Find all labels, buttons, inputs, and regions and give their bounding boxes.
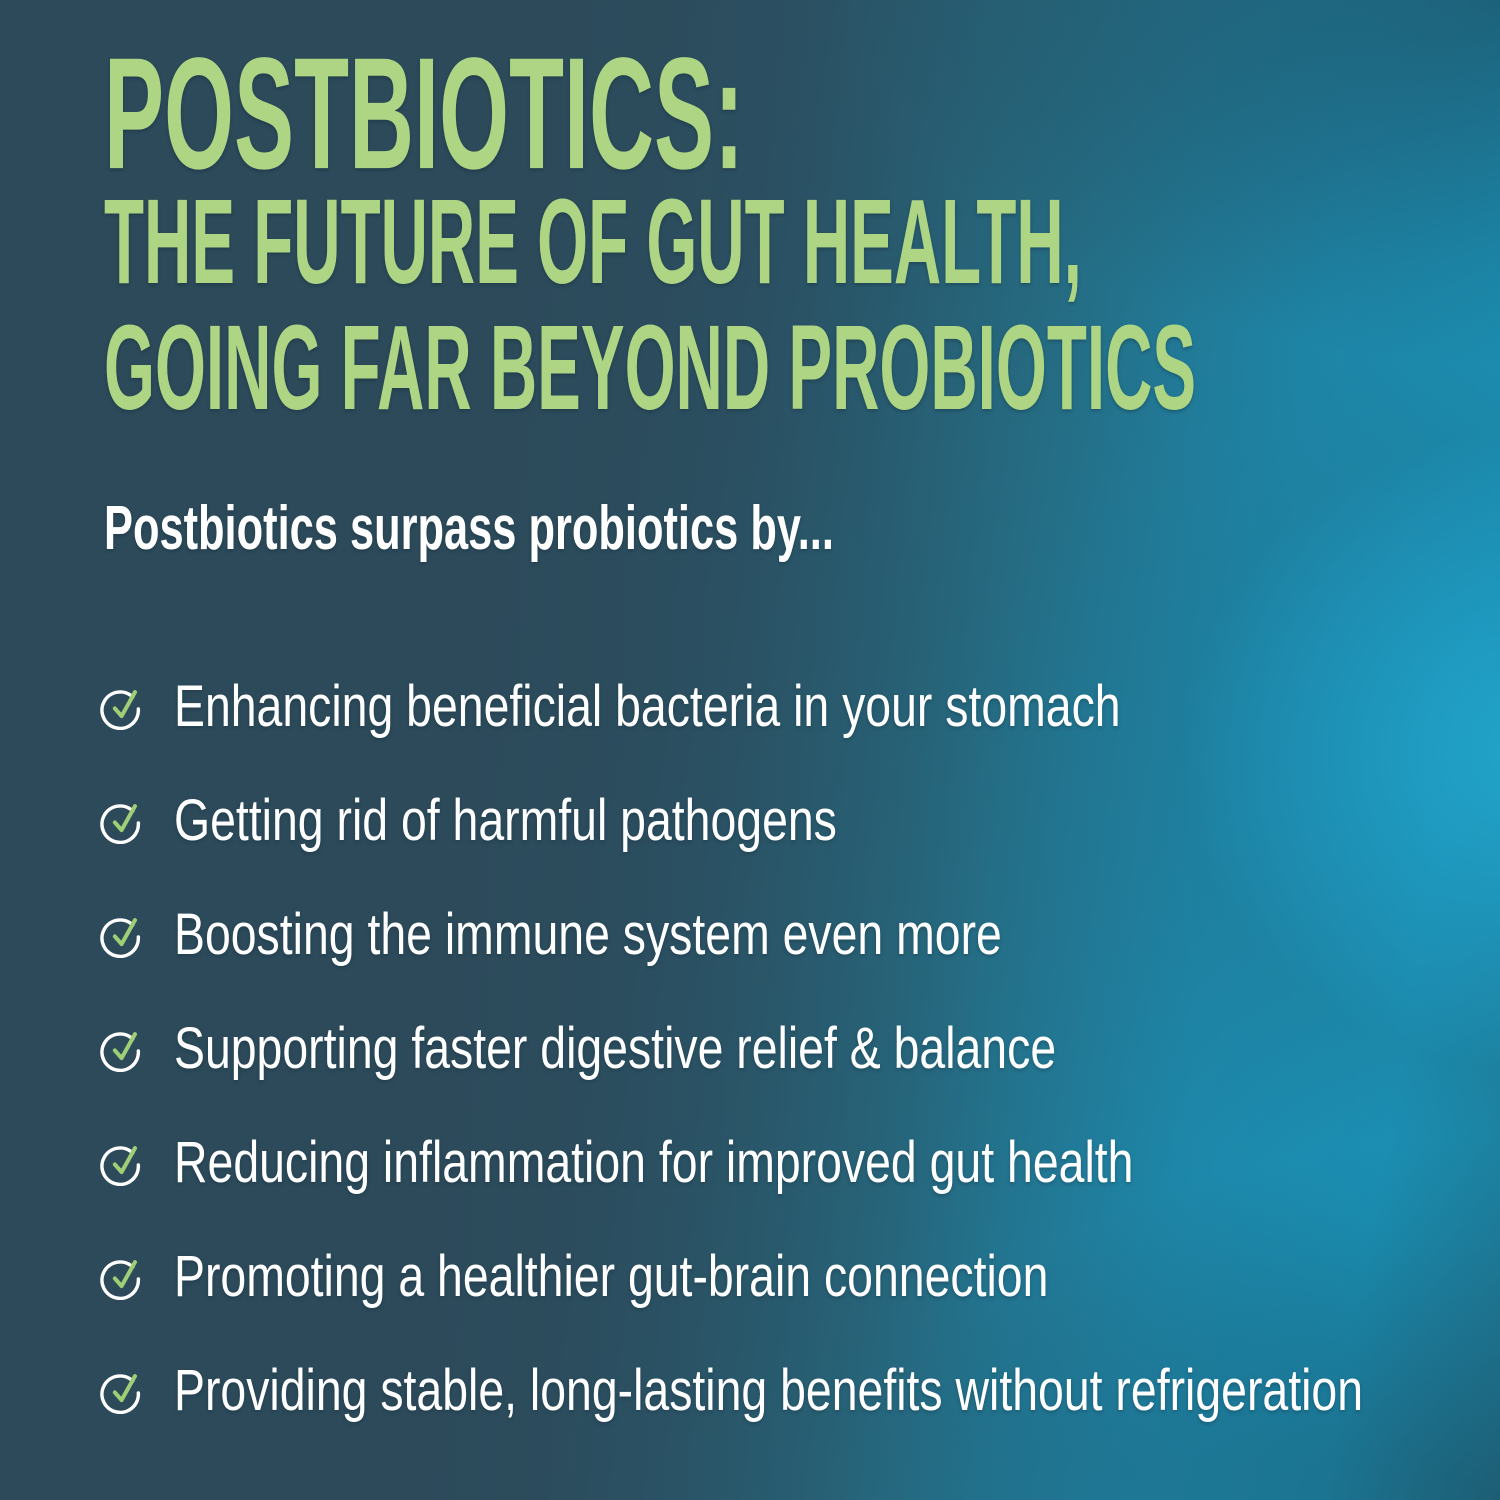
list-item: Reducing inflammation for improved gut h…	[100, 1106, 1460, 1220]
benefits-list: Enhancing beneficial bacteria in your st…	[100, 650, 1460, 1448]
circle-check-icon	[100, 798, 146, 844]
subheading-text: Postbiotics surpass probiotics by...	[104, 498, 834, 560]
benefit-label: Providing stable, long-lasting benefits …	[174, 1362, 1363, 1420]
list-item: Supporting faster digestive relief & bal…	[100, 992, 1460, 1106]
list-item: Providing stable, long-lasting benefits …	[100, 1334, 1460, 1448]
headline-line-1: POSTBIOTICS:	[104, 34, 902, 193]
benefit-label: Boosting the immune system even more	[174, 906, 1002, 964]
benefit-label: Getting rid of harmful pathogens	[174, 792, 837, 850]
benefit-label: Promoting a healthier gut-brain connecti…	[174, 1248, 1048, 1306]
circle-check-icon	[100, 912, 146, 958]
headline-line-2: THE FUTURE OF GUT HEALTH,	[104, 182, 882, 303]
circle-check-icon	[100, 1368, 146, 1414]
benefit-label: Supporting faster digestive relief & bal…	[174, 1020, 1056, 1078]
circle-check-icon	[100, 1140, 146, 1186]
circle-check-icon	[100, 1254, 146, 1300]
list-item: Promoting a healthier gut-brain connecti…	[100, 1220, 1460, 1334]
list-item: Enhancing beneficial bacteria in your st…	[100, 650, 1460, 764]
benefit-label: Enhancing beneficial bacteria in your st…	[174, 678, 1121, 736]
list-item: Getting rid of harmful pathogens	[100, 764, 1460, 878]
benefit-label: Reducing inflammation for improved gut h…	[174, 1134, 1133, 1192]
infographic-poster: POSTBIOTICS: THE FUTURE OF GUT HEALTH, G…	[0, 0, 1500, 1500]
circle-check-icon	[100, 684, 146, 730]
headline-block: POSTBIOTICS: THE FUTURE OF GUT HEALTH, G…	[104, 38, 1434, 424]
circle-check-icon	[100, 1026, 146, 1072]
headline-line-3: GOING FAR BEYOND PROBIOTICS	[104, 308, 882, 429]
list-item: Boosting the immune system even more	[100, 878, 1460, 992]
poster-content: POSTBIOTICS: THE FUTURE OF GUT HEALTH, G…	[0, 0, 1500, 1500]
